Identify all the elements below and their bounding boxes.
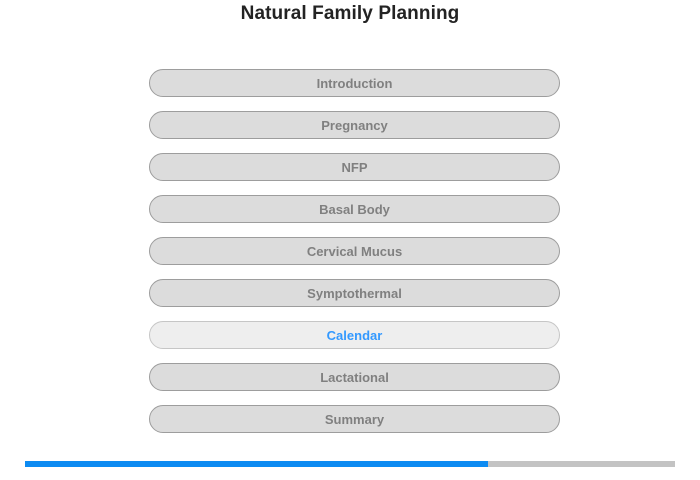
menu-button-nfp[interactable]: NFP bbox=[149, 153, 560, 181]
menu-button-lactational[interactable]: Lactational bbox=[149, 363, 560, 391]
menu-button-label: Introduction bbox=[317, 77, 393, 90]
page-title: Natural Family Planning bbox=[0, 3, 700, 25]
menu-button-summary[interactable]: Summary bbox=[149, 405, 560, 433]
progress-bar-track bbox=[25, 461, 675, 467]
menu-button-label: Calendar bbox=[327, 329, 383, 342]
menu-button-label: NFP bbox=[342, 161, 368, 174]
menu-button-basal-body[interactable]: Basal Body bbox=[149, 195, 560, 223]
progress-bar-fill bbox=[25, 461, 488, 467]
menu-button-pregnancy[interactable]: Pregnancy bbox=[149, 111, 560, 139]
menu-button-introduction[interactable]: Introduction bbox=[149, 69, 560, 97]
menu-button-label: Symptothermal bbox=[307, 287, 402, 300]
menu-button-label: Summary bbox=[325, 413, 384, 426]
menu-button-symptothermal[interactable]: Symptothermal bbox=[149, 279, 560, 307]
navigation-menu: IntroductionPregnancyNFPBasal BodyCervic… bbox=[149, 69, 560, 447]
menu-button-label: Pregnancy bbox=[321, 119, 387, 132]
menu-button-cervical-mucus[interactable]: Cervical Mucus bbox=[149, 237, 560, 265]
menu-button-calendar[interactable]: Calendar bbox=[149, 321, 560, 349]
menu-button-label: Lactational bbox=[320, 371, 389, 384]
menu-button-label: Cervical Mucus bbox=[307, 245, 402, 258]
menu-button-label: Basal Body bbox=[319, 203, 390, 216]
